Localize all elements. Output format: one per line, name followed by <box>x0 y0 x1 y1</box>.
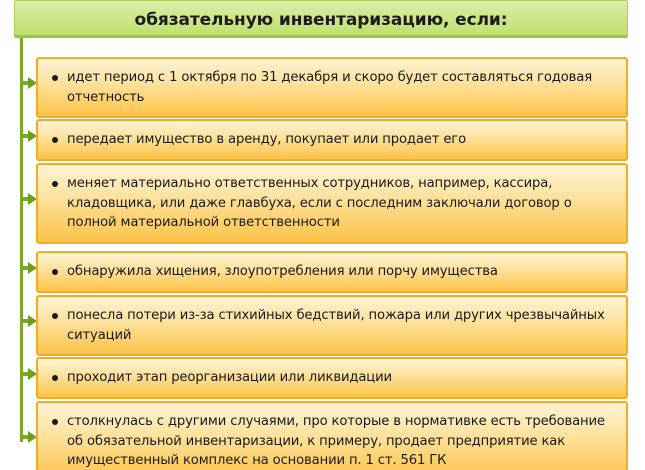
bullet-row: меняет материально ответственных сотрудн… <box>52 174 614 233</box>
header-banner: обязательную инвентаризацию, если: <box>14 0 628 38</box>
item-text: меняет материально ответственных сотрудн… <box>67 174 614 233</box>
bullet-icon <box>52 269 58 275</box>
bullet-icon <box>52 181 58 187</box>
item-text: проходит этап реорганизации или ликвидац… <box>67 368 392 388</box>
bullet-row: проходит этап реорганизации или ликвидац… <box>52 368 614 388</box>
bullet-icon <box>52 419 58 425</box>
item-box: меняет материально ответственных сотрудн… <box>36 163 628 244</box>
item-box: обнаружила хищения, злоупотребления или … <box>36 251 628 293</box>
page-title: обязательную инвентаризацию, если: <box>135 12 508 35</box>
bullet-row: понесла потери из-за стихийных бедствий,… <box>52 306 614 345</box>
item-text: понесла потери из-за стихийных бедствий,… <box>67 306 614 345</box>
item-box: проходит этап реорганизации или ликвидац… <box>36 357 628 399</box>
bullet-icon <box>52 313 58 319</box>
item-box: столкнулась с другими случаями, про кото… <box>36 401 628 470</box>
bullet-row: идет период с 1 октября по 31 декабря и … <box>52 68 614 107</box>
bullet-icon <box>52 375 58 381</box>
item-text: столкнулась с другими случаями, про кото… <box>67 412 614 470</box>
infographic-root: обязательную инвентаризацию, если: идет … <box>0 0 645 470</box>
item-box: идет период с 1 октября по 31 декабря и … <box>36 57 628 118</box>
bullet-row: столкнулась с другими случаями, про кото… <box>52 412 614 470</box>
item-text: обнаружила хищения, злоупотребления или … <box>67 262 498 282</box>
item-box: передает имущество в аренду, покупает ил… <box>36 119 628 161</box>
item-text: передает имущество в аренду, покупает ил… <box>67 130 466 150</box>
item-box: понесла потери из-за стихийных бедствий,… <box>36 295 628 356</box>
bullet-row: обнаружила хищения, злоупотребления или … <box>52 262 614 282</box>
bullet-icon <box>52 75 58 81</box>
item-text: идет период с 1 октября по 31 декабря и … <box>67 68 614 107</box>
vertical-connector-line <box>20 38 23 442</box>
bullet-icon <box>52 137 58 143</box>
bullet-row: передает имущество в аренду, покупает ил… <box>52 130 614 150</box>
